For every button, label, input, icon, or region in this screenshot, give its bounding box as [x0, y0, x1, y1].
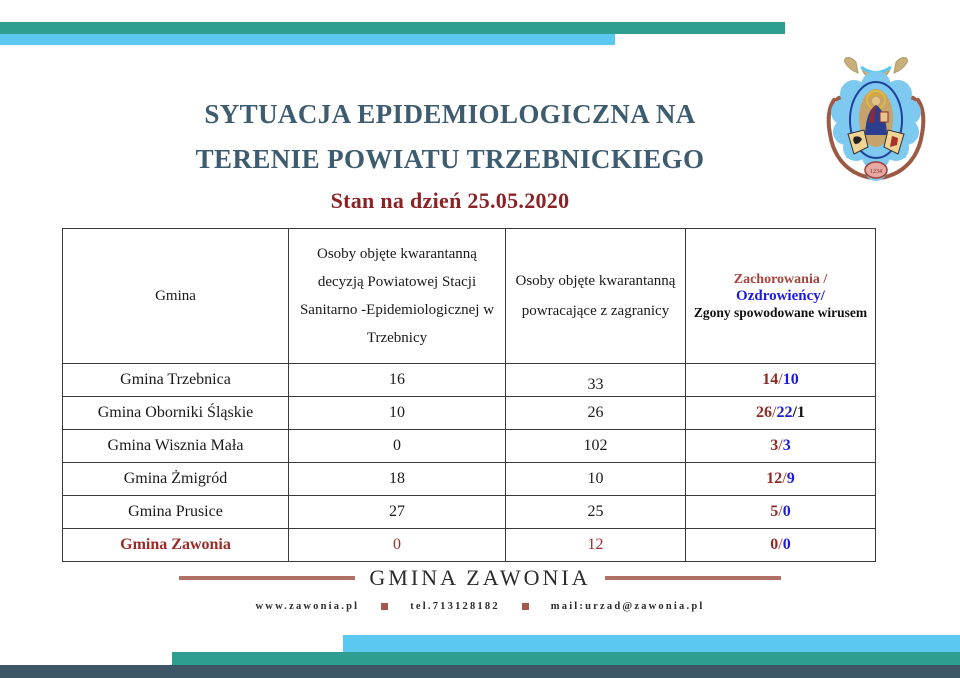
epidemiological-table: Gmina Osoby objęte kwarantanną decyzją P… [62, 228, 876, 562]
cell-zachorowania: 0/0 [686, 529, 876, 562]
header-ozdrowiency-label: Ozdrowieńcy/ [686, 288, 875, 305]
cell-gmina: Gmina Prusice [63, 496, 289, 529]
footer-website[interactable]: www.zawonia.pl [256, 601, 360, 612]
cell-zachorowania: 26/22/1 [686, 397, 876, 430]
zachorowania-count: 14 [762, 371, 778, 388]
zachorowania-value: 5/0 [770, 503, 790, 520]
ozdrowiency-count: 0 [783, 503, 791, 520]
square-separator-icon [522, 603, 529, 610]
column-header-gmina: Gmina [63, 229, 289, 364]
title-line-2: TERENIE POWIATU TRZEBNICKIEGO [100, 137, 800, 182]
cell-kwarantanna-zagranica: 25 [506, 496, 686, 529]
zagr-line-2: powracające z zagranicy [506, 296, 685, 326]
bottom-blue-bar [343, 635, 960, 652]
top-teal-bar [0, 22, 785, 34]
zagr-line-1: Osoby objęte kwarantanną [506, 266, 685, 296]
cell-kwarantanna-zagranica: 26 [506, 397, 686, 430]
zachorowania-value: 14/10 [762, 371, 798, 388]
report-date-subtitle: Stan na dzień 25.05.2020 [100, 188, 800, 214]
cell-kwarantanna-zagranica: 102 [506, 430, 686, 463]
zgony-count: 1 [797, 404, 805, 421]
zachorowania-count: 26 [756, 404, 772, 421]
page-title: SYTUACJA EPIDEMIOLOGICZNA NA TERENIE POW… [100, 92, 800, 182]
cell-kwarantanna-zagranica: 10 [506, 463, 686, 496]
footer: GMINA ZAWONIA www.zawonia.pl tel.7131281… [0, 565, 960, 612]
header-zachorowania-label: Zachorowania / [686, 272, 875, 288]
cell-gmina: Gmina Zawonia [63, 529, 289, 562]
bottom-dark-bar [0, 665, 960, 678]
kw-line-3: Sanitarno -Epidemiologicznej w [289, 296, 505, 324]
ozdrowiency-count: 10 [783, 371, 799, 388]
table-header: Gmina Osoby objęte kwarantanną decyzją P… [63, 229, 876, 364]
cell-zachorowania: 12/9 [686, 463, 876, 496]
footer-rule-left [179, 576, 355, 580]
cell-gmina: Gmina Żmigród [63, 463, 289, 496]
column-header-kwarantanna-zagranica: Osoby objęte kwarantanną powracające z z… [506, 229, 686, 364]
zachorowania-value: 3/3 [770, 437, 790, 454]
table-body: Gmina Trzebnica163314/10Gmina Oborniki Ś… [63, 364, 876, 562]
ozdrowiency-count: 9 [787, 470, 795, 487]
cell-gmina: Gmina Oborniki Śląskie [63, 397, 289, 430]
cell-zachorowania: 5/0 [686, 496, 876, 529]
table-row: Gmina Prusice27255/0 [63, 496, 876, 529]
footer-brand-row: GMINA ZAWONIA [0, 565, 960, 591]
header-zgony-label: Zgony spowodowane wirusem [686, 305, 875, 321]
cell-zachorowania: 3/3 [686, 430, 876, 463]
column-header-zachorowania: Zachorowania / Ozdrowieńcy/ Zgony spowod… [686, 229, 876, 364]
title-line-1: SYTUACJA EPIDEMIOLOGICZNA NA [100, 92, 800, 137]
bottom-teal-bar [172, 652, 960, 665]
zachorowania-value: 26/22/1 [756, 404, 805, 421]
cell-kwarantanna-zagranica: 33 [506, 364, 686, 397]
square-separator-icon [381, 603, 388, 610]
table-row: Gmina Żmigród181012/9 [63, 463, 876, 496]
footer-contact: www.zawonia.pl tel.713128182 mail:urzad@… [0, 601, 960, 612]
kw-line-1: Osoby objęte kwarantanną [289, 240, 505, 268]
footer-rule-right [605, 576, 781, 580]
zachorowania-value: 0/0 [770, 536, 790, 553]
cell-kwarantanna-psse: 0 [289, 430, 506, 463]
cell-kwarantanna-psse: 10 [289, 397, 506, 430]
cell-kwarantanna-zagranica: 12 [506, 529, 686, 562]
footer-phone[interactable]: tel.713128182 [410, 601, 500, 612]
column-header-kwarantanna-psse: Osoby objęte kwarantanną decyzją Powiato… [289, 229, 506, 364]
cell-kwarantanna-psse: 27 [289, 496, 506, 529]
zachorowania-count: 12 [766, 470, 782, 487]
coat-of-arms-icon: 1234 [812, 42, 940, 202]
cell-gmina: Gmina Wisznia Mała [63, 430, 289, 463]
kw-line-4: Trzebnicy [289, 324, 505, 352]
table-row: Gmina Oborniki Śląskie102626/22/1 [63, 397, 876, 430]
table-row: Gmina Wisznia Mała01023/3 [63, 430, 876, 463]
svg-text:1234: 1234 [870, 169, 882, 175]
cell-gmina: Gmina Trzebnica [63, 364, 289, 397]
table-row: Gmina Zawonia0120/0 [63, 529, 876, 562]
ozdrowiency-count: 22 [777, 404, 793, 421]
cell-kwarantanna-psse: 0 [289, 529, 506, 562]
cell-zachorowania: 14/10 [686, 364, 876, 397]
cell-kwarantanna-psse: 16 [289, 364, 506, 397]
top-blue-bar [0, 34, 615, 45]
footer-mail[interactable]: mail:urzad@zawonia.pl [551, 601, 705, 612]
ozdrowiency-count: 0 [783, 536, 791, 553]
zachorowania-value: 12/9 [766, 470, 794, 487]
footer-brand: GMINA ZAWONIA [369, 565, 590, 591]
ozdrowiency-count: 3 [783, 437, 791, 454]
kw-line-2: decyzją Powiatowej Stacji [289, 268, 505, 296]
cell-kwarantanna-psse: 18 [289, 463, 506, 496]
table-row: Gmina Trzebnica163314/10 [63, 364, 876, 397]
cell-value: 33 [588, 376, 604, 393]
table-header-row: Gmina Osoby objęte kwarantanną decyzją P… [63, 229, 876, 364]
